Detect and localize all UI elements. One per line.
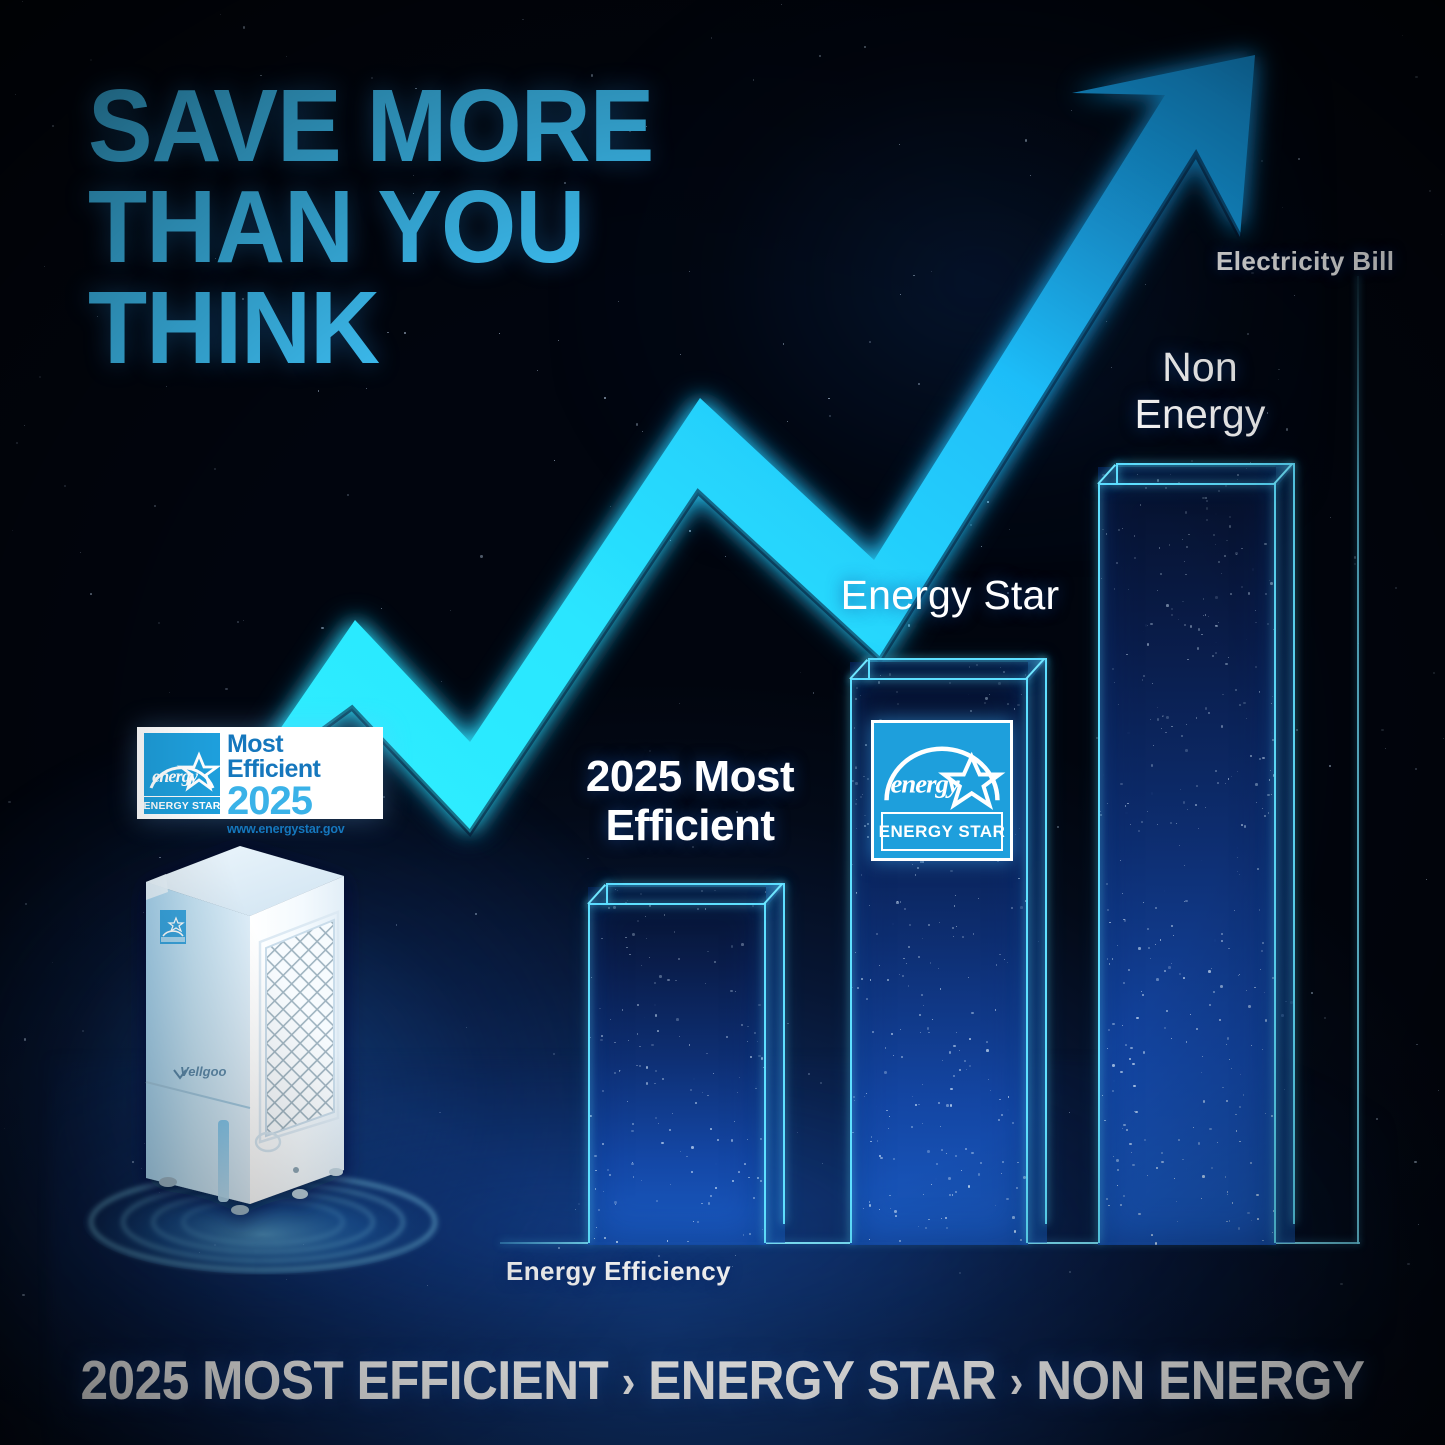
bar-edge-back-left (606, 883, 608, 905)
badge-logo-square: energy (144, 733, 220, 796)
bar-edge-back-right (1293, 463, 1295, 1224)
dehumidifier-product-image: Vellgoo (88, 830, 418, 1250)
bar-side-face (1027, 660, 1047, 1243)
bar-side-face (765, 885, 785, 1243)
chevron-right-icon-1: › (622, 1355, 635, 1407)
bar-front-face (1098, 467, 1276, 1245)
footer-part-energy-star: ENERGY STAR (648, 1349, 996, 1411)
page-title: SAVE MORE THAN YOU THINK (88, 76, 821, 379)
footer-comparison-tagline: 2025 MOST EFFICIENT › ENERGY STAR › NON … (72, 1348, 1373, 1412)
badge-text-block: Most Efficient 2025 www.energystar.gov (225, 727, 383, 819)
infographic-canvas: SAVE MORE THAN YOU THINK Electricity Bil… (0, 0, 1445, 1445)
footer-part-most-efficient: 2025 MOST EFFICIENT (80, 1349, 608, 1411)
bar-edge-front-left (1098, 483, 1100, 1243)
energy-star-wordmark: ENERGY STAR (879, 822, 1006, 842)
bar-label-line-1: 2025 Most (540, 752, 840, 801)
energy-star-most-efficient-badge: energy ENERGY STAR Most Efficient 2025 w… (137, 727, 383, 819)
chevron-right-icon-2: › (1010, 1355, 1023, 1407)
bar-edge-front-left (588, 903, 590, 1243)
bar-edge-back-top (868, 658, 1046, 660)
bar-edge-front-right (1274, 483, 1276, 1243)
bar-starfield (1098, 467, 1276, 1245)
bar-edge-front-top (850, 678, 1028, 680)
bar-edge-back-right (783, 883, 785, 1224)
bar-edge-front-top (588, 903, 766, 905)
svg-text:Vellgoo: Vellgoo (180, 1064, 227, 1079)
bar-edge-front-right (764, 903, 766, 1243)
bar-label-energy-star: Energy Star (800, 572, 1100, 619)
energy-star-wordmark-box: ENERGY STAR (881, 812, 1003, 851)
bar-label-line-1: Non (1070, 344, 1330, 391)
bar-edge-back-top (1116, 463, 1294, 465)
bar-edge-back-left (1116, 463, 1118, 485)
bar-non-energy (1090, 445, 1305, 1245)
bar-side-face (1275, 465, 1295, 1243)
badge-line-most-efficient: Most Efficient (227, 732, 377, 782)
bar-front-face (588, 887, 766, 1245)
footer-part-non-energy: NON ENERGY (1036, 1349, 1364, 1411)
bar-label-line-1: Energy Star (800, 572, 1100, 619)
bar-2025-most-efficient (580, 865, 795, 1245)
bar-edge-back-left (868, 658, 870, 680)
bar-edge-front-right (1026, 678, 1028, 1243)
badge-line-year: 2025 (227, 783, 377, 821)
x-axis-label: Energy Efficiency (506, 1256, 731, 1287)
bar-label-non-energy: Non Energy (1070, 344, 1330, 437)
bar-edge-back-right (1045, 658, 1047, 1224)
energy-star-mark: energy (874, 723, 1010, 812)
y-axis-label: Electricity Bill (1216, 246, 1394, 277)
bar-label-line-2: Efficient (540, 801, 840, 850)
badge-logo-wordmark-box: ENERGY STAR (144, 797, 220, 814)
energy-star-logo-icon: energy ENERGY STAR (871, 720, 1013, 861)
bar-label-line-2: Energy (1070, 391, 1330, 438)
badge-logo-icon: energy ENERGY STAR (137, 727, 225, 819)
bar-edge-front-top (1098, 483, 1276, 485)
badge-logo-wordmark: ENERGY STAR (143, 800, 220, 812)
bar-label-2025-most-efficient: 2025 Most Efficient (540, 752, 840, 851)
bar-edge-back-top (606, 883, 784, 885)
bar-edge-front-left (850, 678, 852, 1243)
y-axis-line (1357, 276, 1359, 1244)
bar-energy-star: energy ENERGY STAR (842, 640, 1057, 1245)
bar-starfield (588, 887, 766, 1245)
